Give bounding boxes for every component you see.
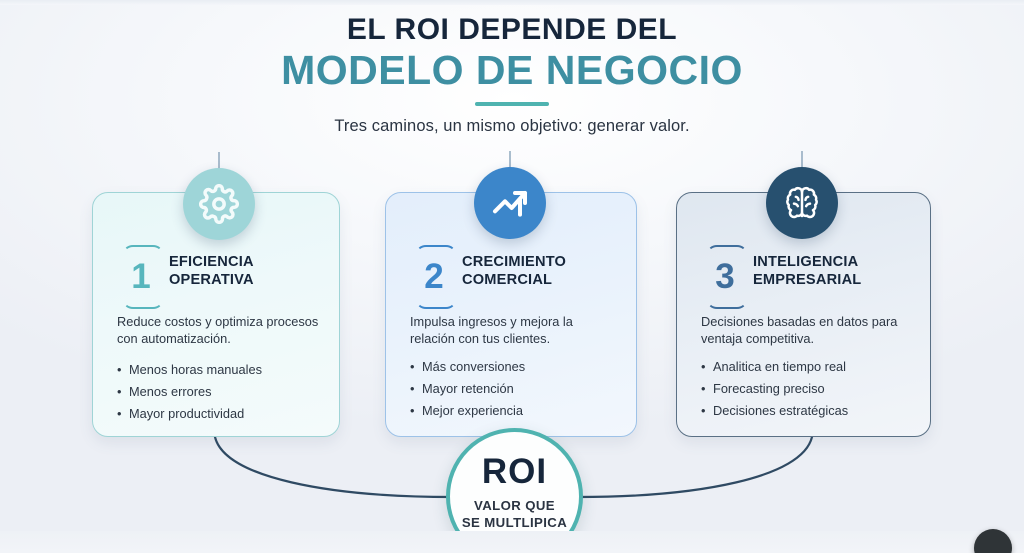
- list-item: Más conversiones: [410, 356, 624, 378]
- subtitle: Tres caminos, un mismo objetivo: generar…: [0, 117, 1024, 136]
- card-title-line2-3: EMPRESARIAL: [753, 271, 920, 289]
- list-item: Mayor retención: [410, 378, 624, 400]
- roi-title: ROI: [482, 454, 547, 489]
- icon-stem-2: [509, 151, 511, 168]
- card-description-3: Decisiones basadas en datos para ventaja…: [701, 313, 914, 347]
- roi-subtitle-line1: VALOR QUE: [474, 498, 555, 515]
- icon-stem-1: [218, 152, 220, 169]
- top-edge-band: [0, 0, 1024, 5]
- gear-icon: [183, 168, 255, 240]
- card-title-line2-1: OPERATIVA: [169, 271, 329, 289]
- card-title-2: CRECIMIENTO COMERCIAL: [462, 253, 626, 290]
- card-title-line1-2: CRECIMIENTO: [462, 253, 626, 271]
- list-item: Mayor productividad: [117, 403, 327, 425]
- bracket-arc-bottom-3: [707, 292, 747, 309]
- card-title-line1-1: EFICIENCIA: [169, 253, 329, 271]
- card-bullet-list-2: Más conversiones Mayor retención Mejor e…: [410, 356, 624, 422]
- card-description-2: Impulsa ingresos y mejora la relación co…: [410, 313, 620, 347]
- bracket-arc-bottom-2: [416, 292, 456, 309]
- list-item: Decisiones estratégicas: [701, 400, 918, 422]
- card-title-line1-3: INTELIGENCIA: [753, 253, 920, 271]
- step-number-badge-1: 1: [117, 245, 165, 309]
- icon-stem-3: [801, 151, 803, 168]
- card-title-1: EFICIENCIA OPERATIVA: [169, 253, 329, 290]
- list-item: Menos horas manuales: [117, 359, 327, 381]
- bottom-edge-band: [0, 531, 1024, 553]
- infographic-canvas: EL ROI DEPENDE DEL MODELO DE NEGOCIO Tre…: [0, 0, 1024, 553]
- title-divider: [475, 102, 549, 106]
- header: EL ROI DEPENDE DEL MODELO DE NEGOCIO Tre…: [0, 14, 1024, 136]
- list-item: Forecasting preciso: [701, 378, 918, 400]
- list-item: Analitica en tiempo real: [701, 356, 918, 378]
- card-description-1: Reduce costos y optimiza procesos con au…: [117, 313, 323, 347]
- card-bullet-list-1: Menos horas manuales Menos errores Mayor…: [117, 359, 327, 425]
- trending-up-icon: [474, 167, 546, 239]
- step-number-badge-3: 3: [701, 245, 749, 309]
- roi-subtitle-line2: SE MULTLIPICA: [462, 515, 567, 532]
- list-item: Mejor experiencia: [410, 400, 624, 422]
- card-title-line2-2: COMERCIAL: [462, 271, 626, 289]
- brain-icon: [766, 167, 838, 239]
- list-item: Menos errores: [117, 381, 327, 403]
- card-bullet-list-3: Analitica en tiempo real Forecasting pre…: [701, 356, 918, 422]
- bracket-arc-bottom-1: [123, 292, 163, 309]
- step-number-badge-2: 2: [410, 245, 458, 309]
- card-title-3: INTELIGENCIA EMPRESARIAL: [753, 253, 920, 290]
- title-line-2: MODELO DE NEGOCIO: [0, 48, 1024, 94]
- title-line-1: EL ROI DEPENDE DEL: [0, 14, 1024, 46]
